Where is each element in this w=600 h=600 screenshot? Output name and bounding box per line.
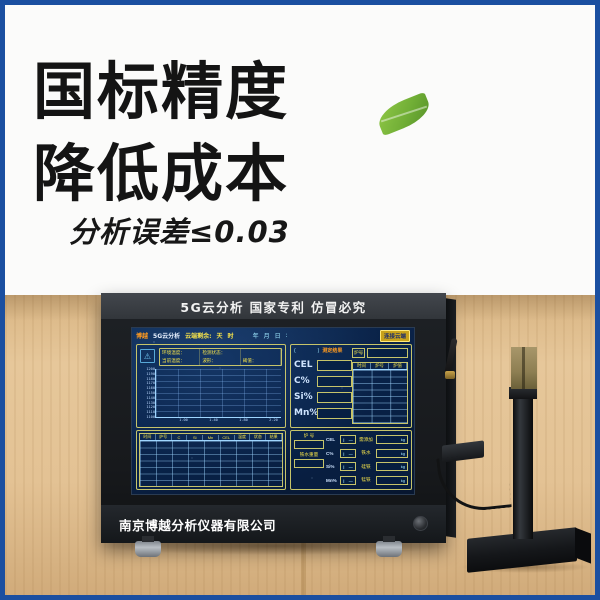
log-header-time: 时间: [353, 363, 371, 369]
alloy-adjustment-panel: 炉 号 铁水重量 CEL | — 需添加 kg: [290, 430, 412, 490]
history-header-state: 状态: [250, 434, 266, 440]
result-row: C%: [294, 373, 352, 389]
cloud-remaining-label: 云端剩余:: [185, 331, 211, 340]
element-value-mn[interactable]: [317, 408, 352, 419]
device-top-banner: 5G云分析 国家专利 仿冒必究: [101, 293, 446, 319]
element-label-c: C%: [294, 376, 315, 386]
time-separator: :: [286, 332, 288, 339]
molten-weight-input[interactable]: [294, 459, 324, 468]
adjust-label-si: 硅铁: [358, 464, 374, 470]
furnace-number-label: 炉号: [352, 348, 365, 358]
top-banner-text: 5G云分析 国家专利 仿冒必究: [180, 297, 366, 316]
sample-stand-post: [513, 387, 533, 539]
y-tick: 1170: [146, 381, 155, 385]
range-dash-si: —: [349, 464, 353, 469]
paren-close: ): [318, 348, 320, 354]
adjust-row: Si% | — 硅铁 kg: [326, 461, 408, 472]
adjust-element-mn: Mn%: [326, 478, 338, 483]
adjust-kg-c[interactable]: kg: [376, 449, 408, 458]
marketing-copy-area: 国标精度 降低成本 分析误差≤0.03: [5, 5, 600, 295]
adjust-element-si: Si%: [326, 464, 338, 469]
result-row: CEL: [294, 357, 352, 373]
probe-head: [511, 347, 537, 389]
y-tick: 1140: [146, 396, 155, 400]
result-row: Si%: [294, 389, 352, 405]
history-header-si: Si: [187, 435, 203, 440]
history-records-panel[interactable]: 时间 炉号 C Si Mn CEL 温度 状态 结果: [136, 430, 286, 490]
history-header-result: 结果: [266, 434, 282, 440]
range-low-mn: |: [343, 478, 344, 483]
history-header-mn: Mn: [203, 435, 219, 440]
measurement-result-panel: ( ) 测定结果 炉号 CEL C%: [290, 344, 412, 428]
range-low-si: |: [343, 464, 344, 469]
log-header-value: 炉值: [389, 363, 407, 369]
stat-waveform-label: 波形：: [200, 357, 240, 365]
element-value-cel[interactable]: [317, 360, 352, 371]
adjust-range-si[interactable]: | —: [340, 462, 356, 471]
weight-column: 炉 号 铁水重量: [294, 433, 324, 471]
adjust-kg-si[interactable]: kg: [376, 462, 408, 471]
log-table-header: 时间 炉号 炉值: [353, 363, 407, 370]
adjust-range-c[interactable]: | —: [340, 449, 356, 458]
device-side-panel: [446, 298, 456, 538]
range-dash-mn: —: [349, 478, 353, 483]
adjust-label-mn: 锰铁: [358, 477, 374, 483]
result-row: Mn%: [294, 405, 352, 421]
adjust-label-c: 铁水: [358, 450, 374, 456]
stat-ambient-temp-label: 环境温度：: [160, 349, 200, 357]
x-tick: 2.20: [269, 418, 278, 422]
warning-icon: ⚠: [140, 349, 155, 363]
history-header-c: C: [172, 435, 188, 440]
subline-accuracy: 分析误差≤0.03: [69, 209, 290, 251]
analyzer-device: 5G云分析 国家专利 仿冒必究 博越 5G云分析 云端剩余: 天 时 年 月 日…: [101, 293, 446, 543]
adjust-label-cel: 需添加: [358, 437, 374, 443]
element-value-si[interactable]: [317, 392, 352, 403]
headline-line-2: 降低成本: [33, 123, 289, 213]
history-table-body: [140, 441, 282, 486]
heat-caption: 炉 号: [294, 433, 324, 439]
y-tick: 1120: [146, 405, 155, 409]
date-year-label: 年: [253, 331, 259, 340]
y-tick: 1160: [146, 386, 155, 390]
x-tick: 1.80: [239, 418, 248, 422]
element-result-list: CEL C% Si% Mn%: [294, 357, 352, 421]
element-label-cel: CEL: [294, 360, 315, 370]
adjust-range-mn[interactable]: | —: [340, 476, 356, 485]
log-table-body: [353, 370, 407, 423]
adjust-row: Mn% | — 锰铁 kg: [326, 475, 408, 486]
power-indicator-icon[interactable]: [413, 516, 428, 531]
screen-mode: 5G云分析: [153, 331, 180, 340]
date-month-label: 月: [264, 331, 270, 340]
history-header-furnace: 炉号: [156, 434, 172, 440]
cloud-unit-day: 天: [217, 331, 223, 340]
furnace-number-field-group: 炉号: [352, 347, 408, 359]
molten-weight-caption: 铁水重量: [294, 452, 324, 458]
date-day-label: 日: [275, 331, 281, 340]
cooling-curve-graph: 1200 1190 1180 1170 1160 1150 1140 1130 …: [155, 369, 281, 418]
adjust-kg-mn[interactable]: kg: [376, 476, 408, 485]
y-tick: 1200: [146, 367, 155, 371]
x-tick: 1.40: [209, 418, 218, 422]
stat-detect-state-label: 检测状态：: [200, 349, 240, 357]
waveform-panel: ⚠ 环境温度： 检测状态： 当前温度： 波形： 阈值： 1200 1190 11…: [136, 344, 286, 428]
history-header-cel: CEL: [219, 435, 235, 440]
leaf-icon: [374, 92, 434, 136]
cloud-connect-button[interactable]: 连接云端: [380, 330, 410, 342]
headline-line-1: 国标精度: [33, 41, 289, 131]
element-value-c[interactable]: [317, 376, 352, 387]
adjust-kg-cel[interactable]: kg: [376, 435, 408, 444]
adjust-row: CEL | — 需添加 kg: [326, 434, 408, 445]
y-tick: 1190: [146, 372, 155, 376]
adjustment-rows: CEL | — 需添加 kg C% | —: [326, 433, 408, 487]
range-low-c: |: [343, 451, 344, 456]
stat-current-temp-label: 当前温度：: [160, 357, 200, 365]
heat-number-input[interactable]: [294, 440, 324, 449]
antenna-base: [445, 371, 455, 379]
range-dash-c: —: [349, 451, 353, 456]
device-foot-left: [135, 541, 161, 557]
history-header-temp: 温度: [235, 434, 251, 440]
adjust-range-cel[interactable]: | —: [340, 435, 356, 444]
adjust-row: C% | — 铁水 kg: [326, 448, 408, 459]
poster-frame: 国标精度 降低成本 分析误差≤0.03 5G云分析 国家专利 仿冒必究 博越 5…: [0, 0, 600, 600]
screen-header-bar: 博越 5G云分析 云端剩余: 天 时 年 月 日 : 连接云端: [132, 328, 414, 343]
measurement-log-table[interactable]: 时间 炉号 炉值: [352, 362, 408, 424]
element-label-si: Si%: [294, 392, 315, 402]
history-header-time: 时间: [140, 434, 156, 440]
y-tick: 1130: [146, 401, 155, 405]
log-header-furnace: 炉号: [371, 363, 389, 369]
range-low-cel: |: [343, 437, 344, 442]
company-name: 南京博越分析仪器有限公司: [119, 515, 276, 534]
history-table-header: 时间 炉号 C Si Mn CEL 温度 状态 结果: [140, 434, 282, 441]
adjust-element-cel: CEL: [326, 437, 338, 442]
furnace-number-input[interactable]: [367, 348, 408, 358]
y-tick: 1180: [146, 377, 155, 381]
x-tick: 1.00: [179, 418, 188, 422]
history-table: 时间 炉号 C Si Mn CEL 温度 状态 结果: [139, 433, 283, 487]
stat-blank-label: [241, 349, 281, 357]
cloud-unit-hour: 时: [228, 331, 234, 340]
paren-open: (: [294, 348, 296, 354]
y-tick: 1100: [146, 415, 155, 419]
adjust-element-c: C%: [326, 451, 338, 456]
y-tick: 1150: [146, 391, 155, 395]
status-fields: 环境温度： 检测状态： 当前温度： 波形： 阈值：: [159, 348, 282, 366]
result-header: ( ) 测定结果: [294, 347, 342, 354]
device-foot-right: [376, 541, 402, 557]
stat-threshold-label: 阈值：: [241, 357, 281, 365]
y-tick: 1110: [146, 410, 155, 414]
screen-brand: 博越: [136, 331, 148, 340]
element-label-mn: Mn%: [294, 408, 315, 418]
range-dash-cel: —: [349, 437, 353, 442]
result-title: 测定结果: [322, 347, 342, 354]
lcd-screen[interactable]: 博越 5G云分析 云端剩余: 天 时 年 月 日 : 连接云端 ⚠ 环境温度： …: [131, 327, 415, 495]
